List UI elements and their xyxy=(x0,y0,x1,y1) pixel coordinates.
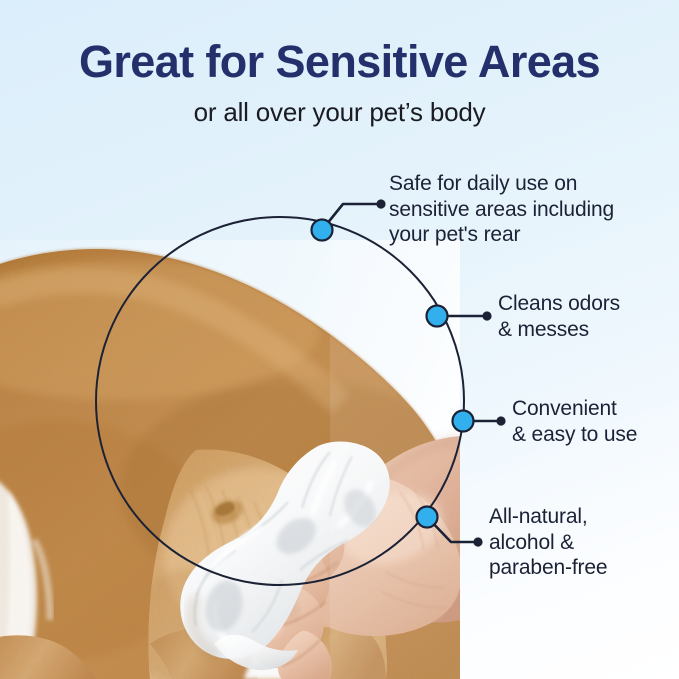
dog-wipe-photo-illustration xyxy=(0,240,460,679)
callout-enddot-3 xyxy=(496,416,505,425)
callout-enddot-1 xyxy=(376,199,385,208)
callout-leader-1 xyxy=(312,199,386,240)
callout-label-1: Safe for daily use on sensitive areas in… xyxy=(389,171,614,248)
callout-leader-3 xyxy=(453,411,506,432)
callout-label-4: All-natural, alcohol & paraben-free xyxy=(489,504,607,581)
page-subtitle: or all over your pet’s body xyxy=(0,96,679,128)
callout-enddot-4 xyxy=(473,537,482,546)
callout-label-3: Convenient & easy to use xyxy=(512,396,637,447)
callout-enddot-2 xyxy=(482,311,491,320)
callout-node-1[interactable] xyxy=(312,220,333,241)
page-title: Great for Sensitive Areas xyxy=(0,36,679,88)
product-photo xyxy=(0,240,460,679)
callout-label-2: Cleans odors & messes xyxy=(498,291,620,342)
infographic-root: Great for Sensitive Areas or all over yo… xyxy=(0,0,679,679)
